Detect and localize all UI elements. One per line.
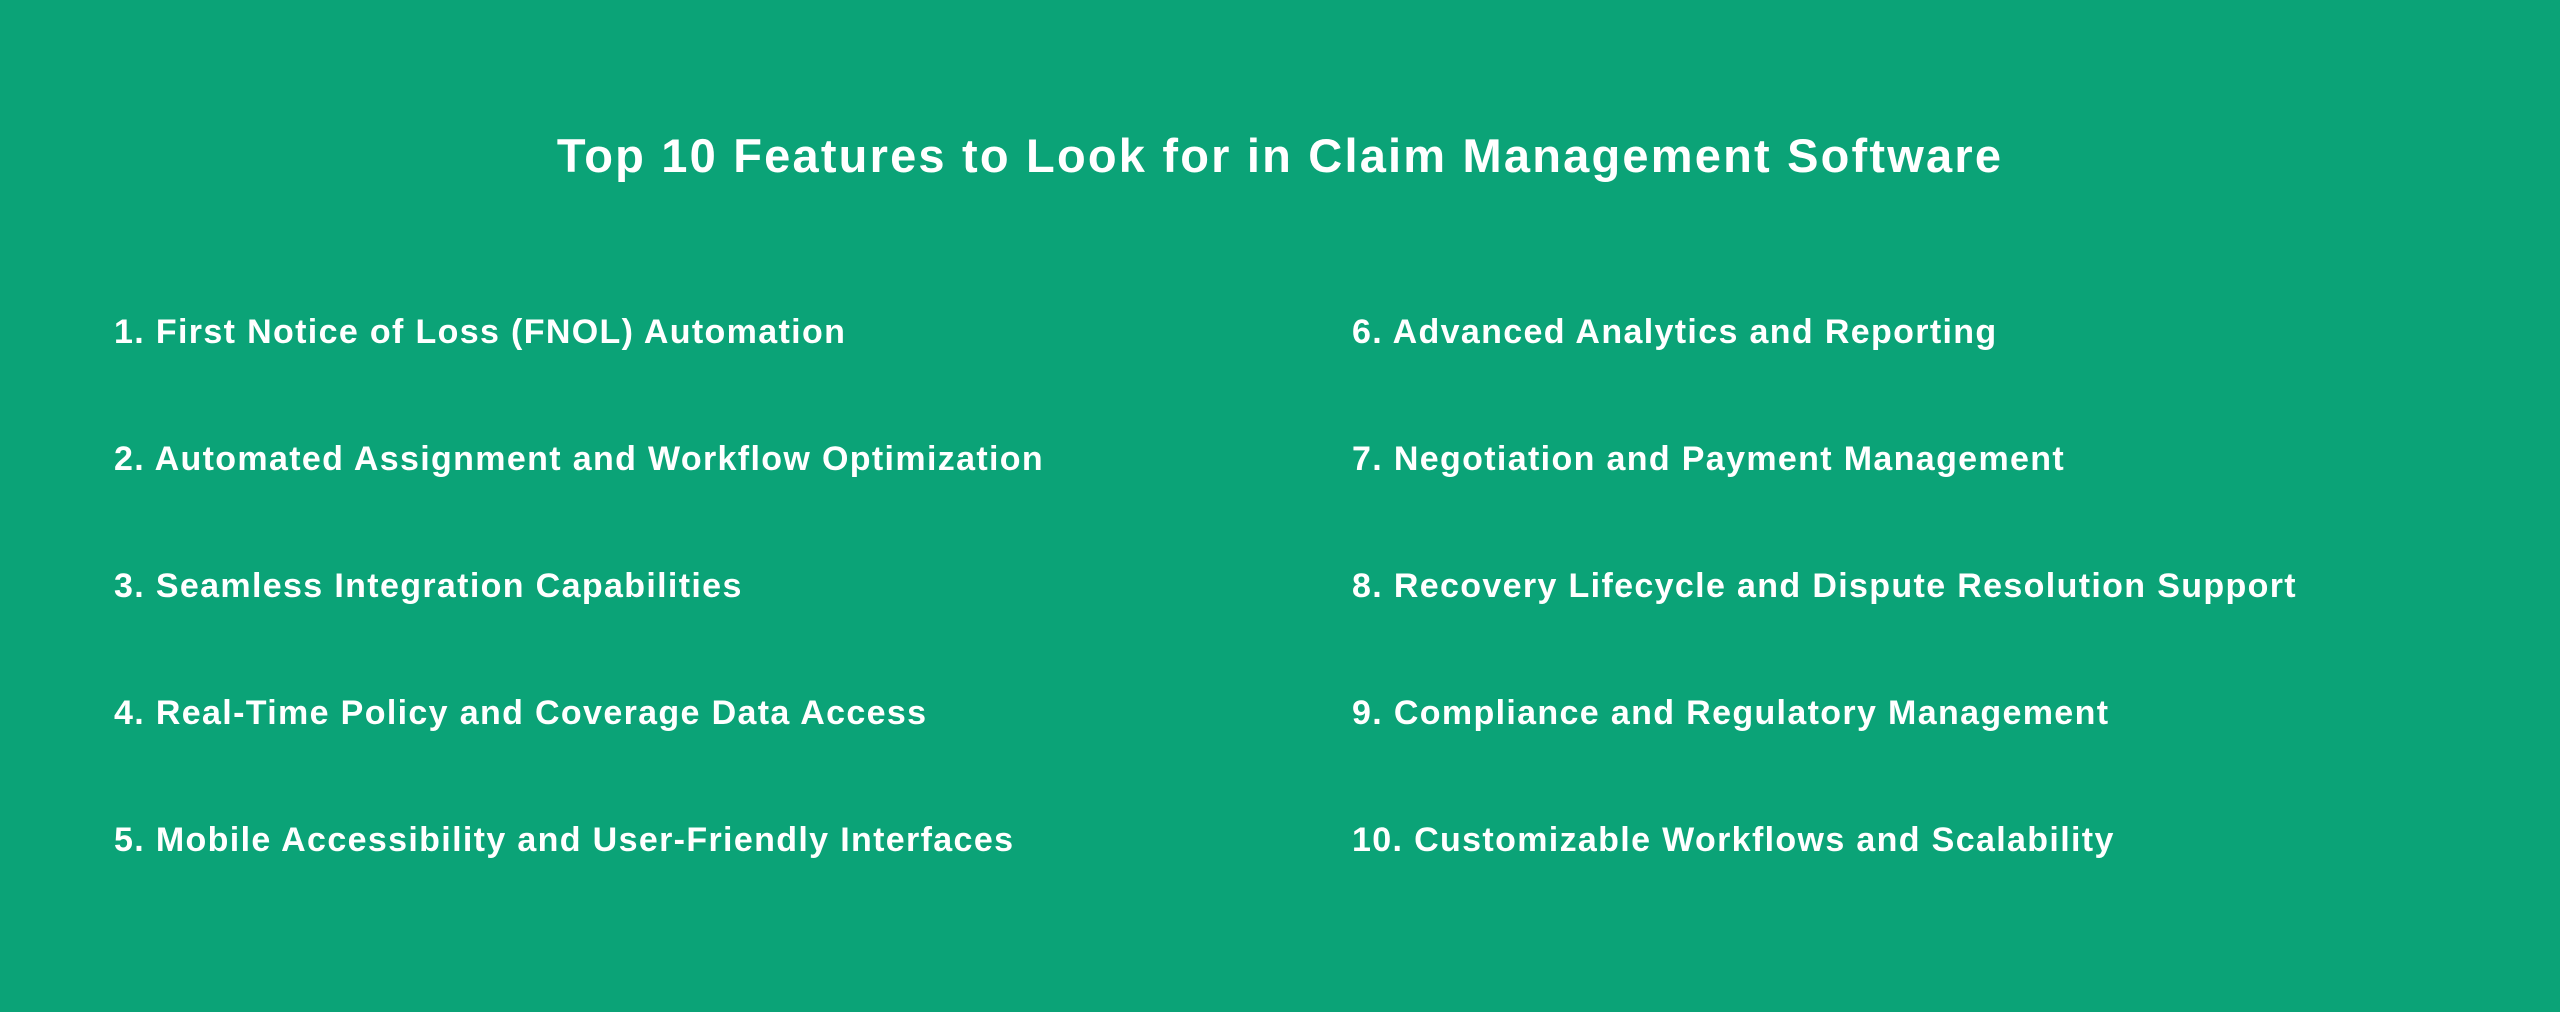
- list-item-label: Mobile Accessibility and User-Friendly I…: [156, 821, 1014, 859]
- list-item: 4. Real-Time Policy and Coverage Data Ac…: [114, 693, 1330, 820]
- list-item-label: First Notice of Loss (FNOL) Automation: [156, 313, 846, 351]
- list-item-label: Compliance and Regulatory Management: [1394, 694, 2110, 732]
- list-item: 7. Negotiation and Payment Management: [1352, 439, 2560, 566]
- feature-list-left-column: 1. First Notice of Loss (FNOL) Automatio…: [0, 312, 1330, 912]
- feature-list-columns: 1. First Notice of Loss (FNOL) Automatio…: [0, 312, 2560, 912]
- list-item-label: Recovery Lifecycle and Dispute Resolutio…: [1394, 567, 2297, 605]
- list-item-label: Automated Assignment and Workflow Optimi…: [155, 440, 1044, 478]
- feature-list-left: 1. First Notice of Loss (FNOL) Automatio…: [114, 312, 1330, 947]
- list-item: 1. First Notice of Loss (FNOL) Automatio…: [114, 312, 1330, 439]
- list-item: 3. Seamless Integration Capabilities: [114, 566, 1330, 693]
- feature-list-right-column: 6. Advanced Analytics and Reporting 7. N…: [1330, 312, 2560, 912]
- list-item-label: Advanced Analytics and Reporting: [1393, 313, 1998, 351]
- list-item-label: Real-Time Policy and Coverage Data Acces…: [156, 694, 928, 732]
- list-item-number: 9.: [1352, 694, 1394, 732]
- list-item-number: 8.: [1352, 567, 1394, 605]
- title-container: Top 10 Features to Look for in Claim Man…: [0, 128, 2560, 183]
- list-item-number: 7.: [1352, 440, 1394, 478]
- list-item-number: 4.: [114, 694, 156, 732]
- list-item-number: 1.: [114, 313, 156, 351]
- list-item: 5. Mobile Accessibility and User-Friendl…: [114, 820, 1330, 947]
- list-item-number: 2.: [114, 440, 155, 478]
- list-item-number: 10.: [1352, 821, 1414, 859]
- list-item-number: 5.: [114, 821, 156, 859]
- list-item-label: Customizable Workflows and Scalability: [1414, 821, 2115, 859]
- list-item-label: Negotiation and Payment Management: [1394, 440, 2065, 478]
- infographic-canvas: Top 10 Features to Look for in Claim Man…: [0, 0, 2560, 1012]
- list-item-number: 6.: [1352, 313, 1393, 351]
- list-item-label: Seamless Integration Capabilities: [156, 567, 743, 605]
- list-item: 2. Automated Assignment and Workflow Opt…: [114, 439, 1330, 566]
- list-item: 8. Recovery Lifecycle and Dispute Resolu…: [1352, 566, 2560, 693]
- feature-list-right: 6. Advanced Analytics and Reporting 7. N…: [1352, 312, 2560, 947]
- list-item: 6. Advanced Analytics and Reporting: [1352, 312, 2560, 439]
- list-item-number: 3.: [114, 567, 156, 605]
- list-item: 10. Customizable Workflows and Scalabili…: [1352, 820, 2560, 947]
- page-title: Top 10 Features to Look for in Claim Man…: [557, 128, 2003, 183]
- list-item: 9. Compliance and Regulatory Management: [1352, 693, 2560, 820]
